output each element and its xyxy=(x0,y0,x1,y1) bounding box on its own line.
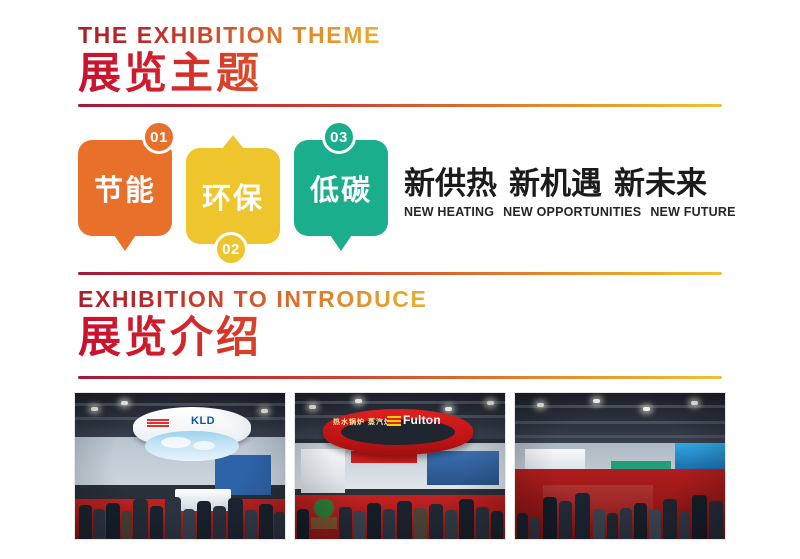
theme-card-label-02: 环保 xyxy=(186,148,280,244)
theme-card-02[interactable]: 环保 02 xyxy=(186,148,280,244)
slogan-en-part-2: NEW OPPORTUNITIES xyxy=(503,205,641,219)
slogan-cn-part-2: 新机遇 xyxy=(509,166,602,201)
slogan-cn-part-1: 新供热 xyxy=(404,166,497,201)
slogan-chinese: 新供热新机遇新未来 xyxy=(404,166,736,202)
gallery-photo-kld-booth[interactable]: KLD xyxy=(74,392,286,540)
divider-rule-top xyxy=(78,104,722,107)
photo-vignette xyxy=(515,393,725,539)
divider-rule-bottom xyxy=(78,376,722,379)
theme-cards-group: 01 节能 环保 02 03 低碳 xyxy=(78,118,408,258)
section-heading-theme: THE EXHIBITION THEME 展览主题 xyxy=(78,22,381,99)
theme-card-01[interactable]: 01 节能 xyxy=(78,140,172,236)
section-title-en-introduce: EXHIBITION TO INTRODUCE xyxy=(78,286,427,312)
section-title-cn-introduce: 展览介绍 xyxy=(78,313,427,363)
theme-card-label-01: 节能 xyxy=(78,140,172,236)
section-heading-introduce: EXHIBITION TO INTRODUCE 展览介绍 xyxy=(78,286,427,363)
photo-vignette xyxy=(295,393,505,539)
slogan-en-part-3: NEW FUTURE xyxy=(650,205,735,219)
gallery-photo-exhibition-aisle[interactable] xyxy=(514,392,726,540)
slogan-cn-part-3: 新未来 xyxy=(614,166,707,201)
theme-card-pointer-03 xyxy=(330,235,352,251)
poster-page: THE EXHIBITION THEME 展览主题 01 节能 环保 02 03… xyxy=(0,0,800,559)
slogan-en-part-1: NEW HEATING xyxy=(404,205,494,219)
gallery-photo-fulton-booth[interactable]: 热水锅炉 蒸汽炉 Fulton xyxy=(294,392,506,540)
section-title-cn-theme: 展览主题 xyxy=(78,49,381,99)
slogan-english: NEW HEATINGNEW OPPORTUNITIESNEW FUTURE xyxy=(404,205,736,220)
theme-card-pointer-01 xyxy=(114,235,136,251)
theme-card-label-03: 低碳 xyxy=(294,140,388,236)
divider-rule-middle xyxy=(78,272,722,275)
theme-card-badge-02: 02 xyxy=(214,232,248,266)
theme-card-badge-03: 03 xyxy=(322,120,356,154)
theme-card-badge-01: 01 xyxy=(142,120,176,154)
theme-card-03[interactable]: 03 低碳 xyxy=(294,140,388,236)
slogan-block: 新供热新机遇新未来 NEW HEATINGNEW OPPORTUNITIESNE… xyxy=(404,166,736,220)
theme-card-pointer-02 xyxy=(222,135,244,149)
section-title-en-theme: THE EXHIBITION THEME xyxy=(78,22,381,48)
photo-vignette xyxy=(75,393,285,539)
photo-gallery: KLD xyxy=(74,392,726,540)
